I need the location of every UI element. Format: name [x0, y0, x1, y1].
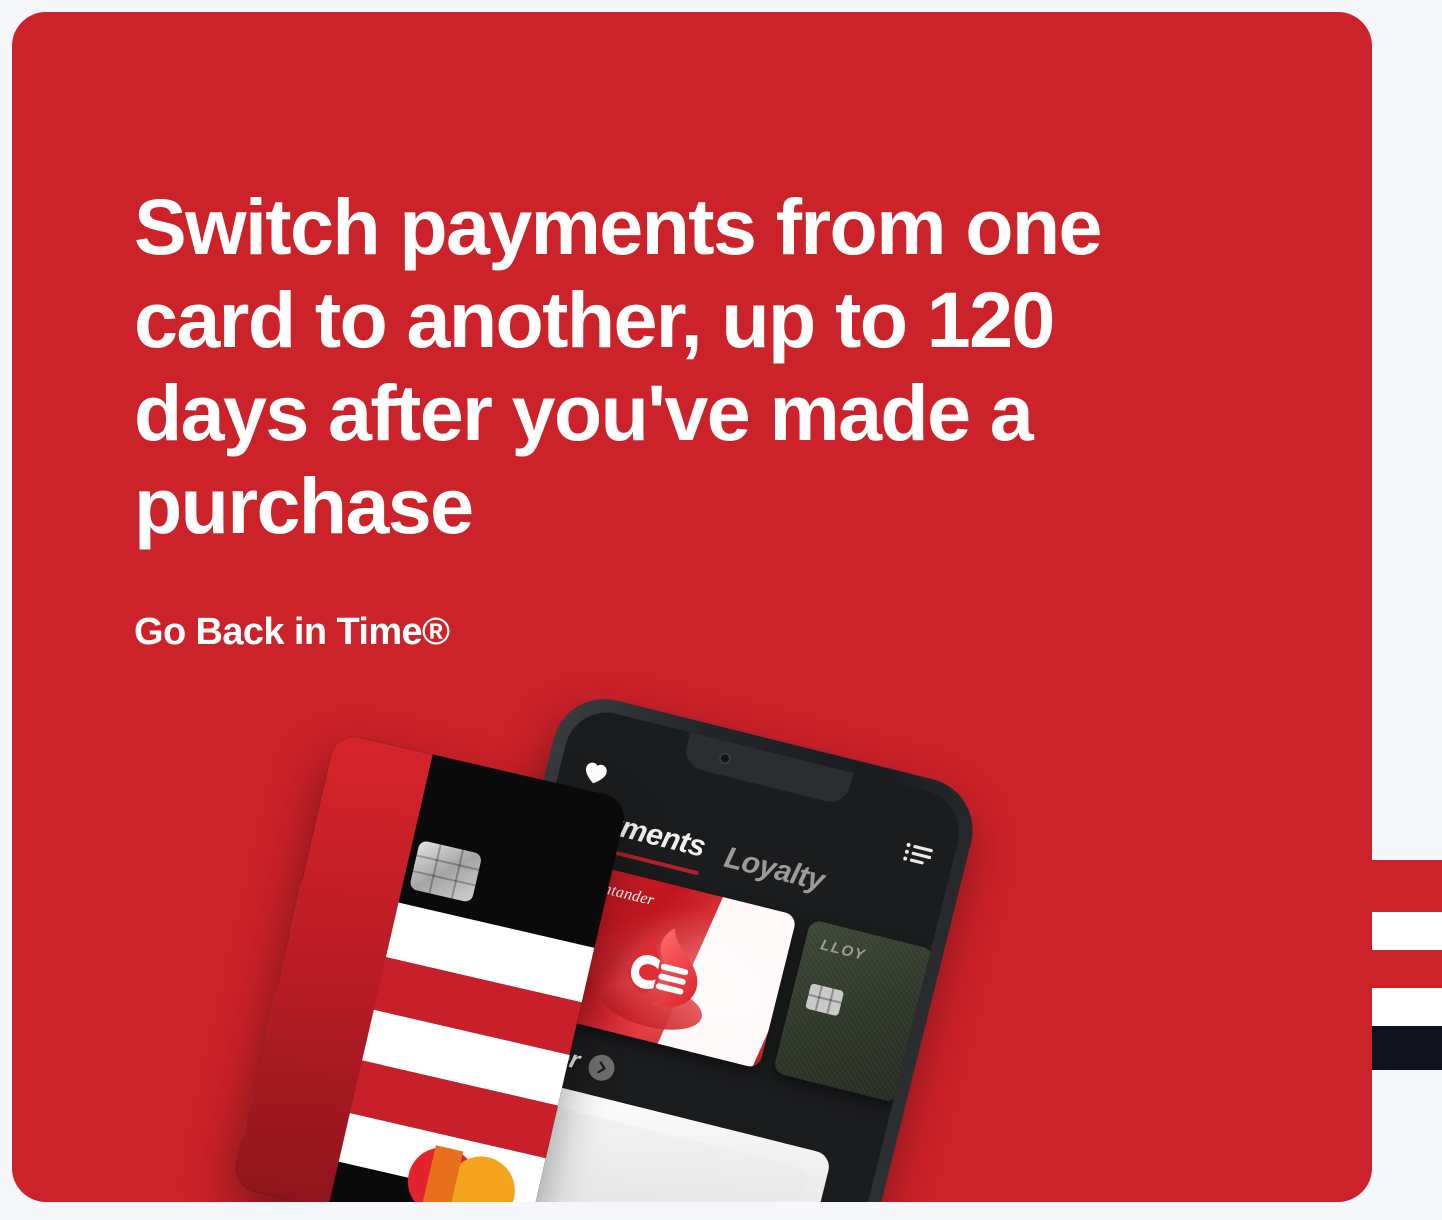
tab-loyalty[interactable]: Loyalty — [719, 841, 827, 905]
copy-block: Switch payments from one card to another… — [134, 180, 1214, 656]
santander-flame-logo — [591, 912, 732, 1045]
chevron-right-icon[interactable] — [586, 1052, 618, 1084]
promo-banner: Switch payments from one card to another… — [0, 0, 1442, 1220]
lloyds-label: LLOY — [819, 936, 868, 964]
promo-subtitle: Go Back in Time® — [134, 608, 1214, 656]
list-icon[interactable] — [903, 842, 934, 867]
page-title: Switch payments from one card to another… — [134, 180, 1214, 552]
lloyds-chip-icon — [805, 983, 844, 1016]
heart-icon[interactable] — [581, 760, 610, 787]
phone-camera-icon — [718, 751, 733, 766]
artwork: Payments Loyalty Santander — [12, 712, 1372, 1202]
red-panel: Switch payments from one card to another… — [12, 12, 1372, 1202]
